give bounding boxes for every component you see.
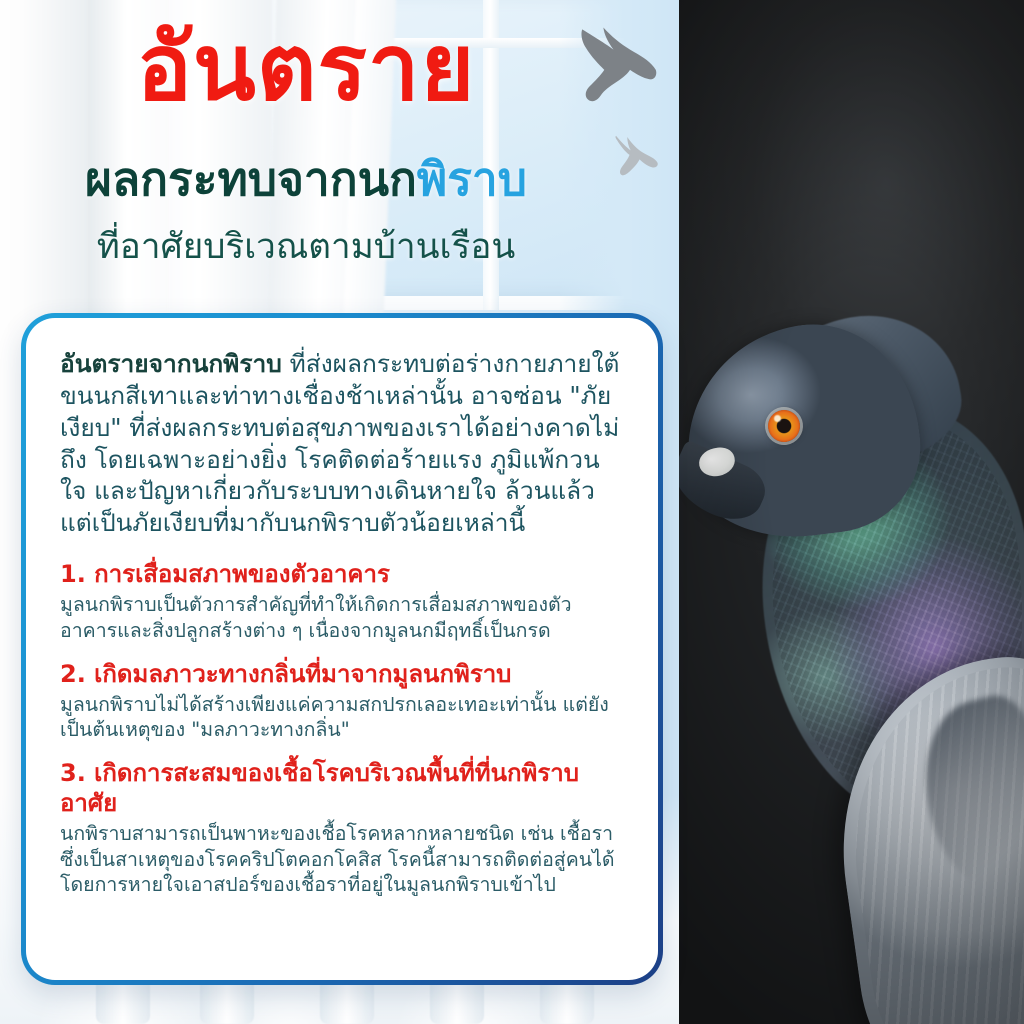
section-body: นกพิราบสามารถเป็นพาหะของเชื้อโรคหลากหลาย… xyxy=(60,821,624,898)
pigeon-neck-texture xyxy=(755,408,1024,832)
tagline: ที่อาศัยบริเวณตามบ้านเรือน xyxy=(0,228,612,267)
page-title: อันตราย xyxy=(0,22,612,114)
pigeon-eye xyxy=(766,408,802,444)
intro-lead: อันตรายจากนกพิราบ xyxy=(60,349,282,378)
pigeon-neck xyxy=(744,395,1024,841)
pigeon-body-texture xyxy=(831,653,1024,1024)
pigeon-beak xyxy=(679,439,773,530)
subtitle: ผลกระทบจากนกพิราบ xyxy=(0,155,612,203)
pigeon-photo xyxy=(679,0,1024,1024)
section-item: 1. การเสื่อมสภาพของตัวอาคาร มูลนกพิราบเป… xyxy=(60,559,624,643)
small-bird-silhouette xyxy=(606,128,662,184)
pigeon-head xyxy=(679,313,930,550)
content-card: อันตรายจากนกพิราบ ที่ส่งผลกระทบต่อร่างกา… xyxy=(21,313,663,985)
pigeon-crown xyxy=(738,301,971,485)
section-item: 3. เกิดการสะสมของเชื้อโรคบริเวณพื้นที่ที… xyxy=(60,758,624,898)
poster-canvas: อันตราย ผลกระทบจากนกพิราบ ที่อาศัยบริเวณ… xyxy=(0,0,1024,1024)
pigeon-body xyxy=(818,641,1024,1024)
section-item: 2. เกิดมลภาวะทางกลิ่นที่มาจากมูลนกพิราบ … xyxy=(60,659,624,743)
section-body: มูลนกพิราบไม่ได้สร้างเพียงแค่ความสกปรกเล… xyxy=(60,692,624,743)
section-title: 3. เกิดการสะสมของเชื้อโรคบริเวณพื้นที่ที… xyxy=(60,758,624,818)
pigeon-wing-shadow xyxy=(906,688,1024,901)
section-body: มูลนกพิราบเป็นตัวการสำคัญที่ทำให้เกิดการ… xyxy=(60,592,624,643)
pigeon-eye-glint xyxy=(774,415,781,422)
pigeon-cere xyxy=(696,445,737,480)
section-title: 2. เกิดมลภาวะทางกลิ่นที่มาจากมูลนกพิราบ xyxy=(60,659,624,689)
subtitle-highlight: พิราบ xyxy=(417,152,527,206)
section-title: 1. การเสื่อมสภาพของตัวอาคาร xyxy=(60,559,624,589)
intro-paragraph: อันตรายจากนกพิราบ ที่ส่งผลกระทบต่อร่างกา… xyxy=(60,348,624,539)
subtitle-prefix: ผลกระทบจากนก xyxy=(85,152,417,206)
